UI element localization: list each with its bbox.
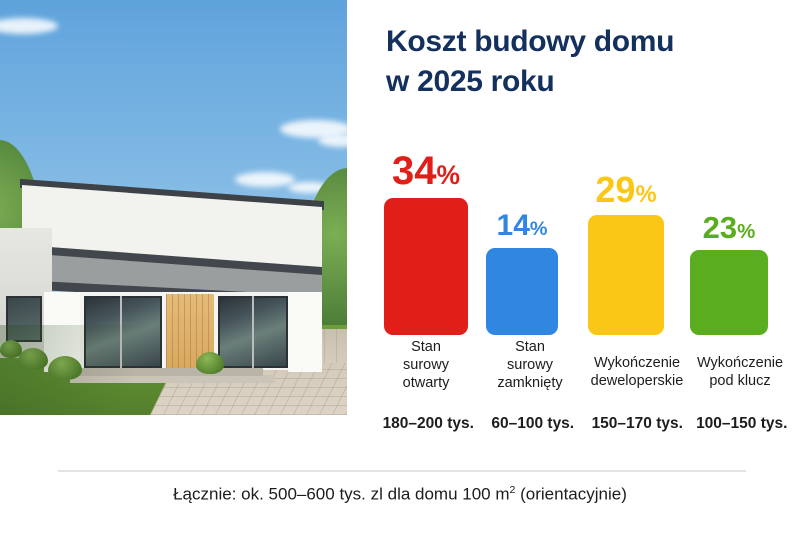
category-label-1: Stansurowyotwarty — [376, 338, 476, 392]
percent-symbol: % — [437, 160, 460, 190]
category-label-line: Stan — [480, 338, 580, 356]
shrub — [196, 352, 224, 374]
page-title: Koszt budowy domu w 2025 roku — [386, 22, 786, 102]
bar-column-3[interactable]: 29% — [588, 130, 664, 335]
title-line-2: w 2025 roku — [386, 62, 786, 102]
cost-range-row: 180–200 tys.60–100 tys.150–170 tys.100–1… — [376, 415, 794, 433]
cost-range-4: 100–150 tys. — [690, 415, 795, 433]
footer-text-before: Łącznie: ok. 500–600 tys. zl dla domu 10… — [173, 485, 509, 504]
cost-range-3: 150–170 tys. — [585, 415, 690, 433]
percent-number: 29 — [595, 169, 635, 210]
category-label-line: pod klucz — [688, 372, 792, 390]
bar-rect-2[interactable] — [486, 248, 558, 335]
footer-text-after: (orientacyjnie) — [515, 485, 627, 504]
bar-column-1[interactable]: 34% — [384, 130, 468, 335]
category-label-line: deweloperskie — [582, 372, 692, 390]
percent-symbol: % — [737, 220, 755, 243]
category-label-line: surowy — [376, 356, 476, 374]
cost-range-2: 60–100 tys. — [481, 415, 586, 433]
category-labels: StansurowyotwartyStansurowyzamkniętyWyko… — [376, 338, 792, 408]
lawn-shadow — [0, 325, 190, 415]
bar-rect-4[interactable] — [690, 250, 768, 335]
category-label-line: zamknięty — [480, 374, 580, 392]
percent-symbol: % — [635, 181, 656, 208]
category-label-2: Stansurowyzamknięty — [480, 338, 580, 392]
bar-column-4[interactable]: 23% — [690, 130, 768, 335]
percent-number: 34 — [392, 149, 437, 193]
category-label-line: surowy — [480, 356, 580, 374]
bar-percent-label-4: 23% — [703, 212, 756, 243]
bar-chart: 34%14%29%23% — [376, 130, 792, 335]
summary-footer: Łącznie: ok. 500–600 tys. zl dla domu 10… — [0, 484, 800, 505]
facade-pillar — [288, 292, 322, 372]
cloud-icon — [235, 172, 295, 187]
percent-number: 23 — [703, 210, 737, 245]
bar-percent-label-3: 29% — [595, 172, 656, 208]
infographic-root: Koszt budowy domu w 2025 roku 34%14%29%2… — [0, 0, 800, 533]
house-photo — [0, 0, 347, 415]
title-line-1: Koszt budowy domu — [386, 22, 786, 62]
category-label-line: Wykończenie — [582, 354, 692, 372]
percent-symbol: % — [530, 218, 548, 240]
footer-divider — [58, 470, 746, 472]
bar-rect-3[interactable] — [588, 215, 664, 335]
percent-number: 14 — [497, 209, 530, 242]
category-label-3: Wykończeniedeweloperskie — [582, 354, 692, 390]
category-label-4: Wykończeniepod klucz — [688, 354, 792, 390]
window-mullion — [252, 296, 254, 368]
bar-percent-label-1: 34% — [392, 151, 460, 191]
bar-column-2[interactable]: 14% — [486, 130, 558, 335]
category-label-line: otwarty — [376, 374, 476, 392]
cost-range-1: 180–200 tys. — [376, 415, 481, 433]
category-label-line: Stan — [376, 338, 476, 356]
category-label-line: Wykończenie — [688, 354, 792, 372]
bar-rect-1[interactable] — [384, 198, 468, 335]
bar-percent-label-2: 14% — [497, 211, 548, 241]
